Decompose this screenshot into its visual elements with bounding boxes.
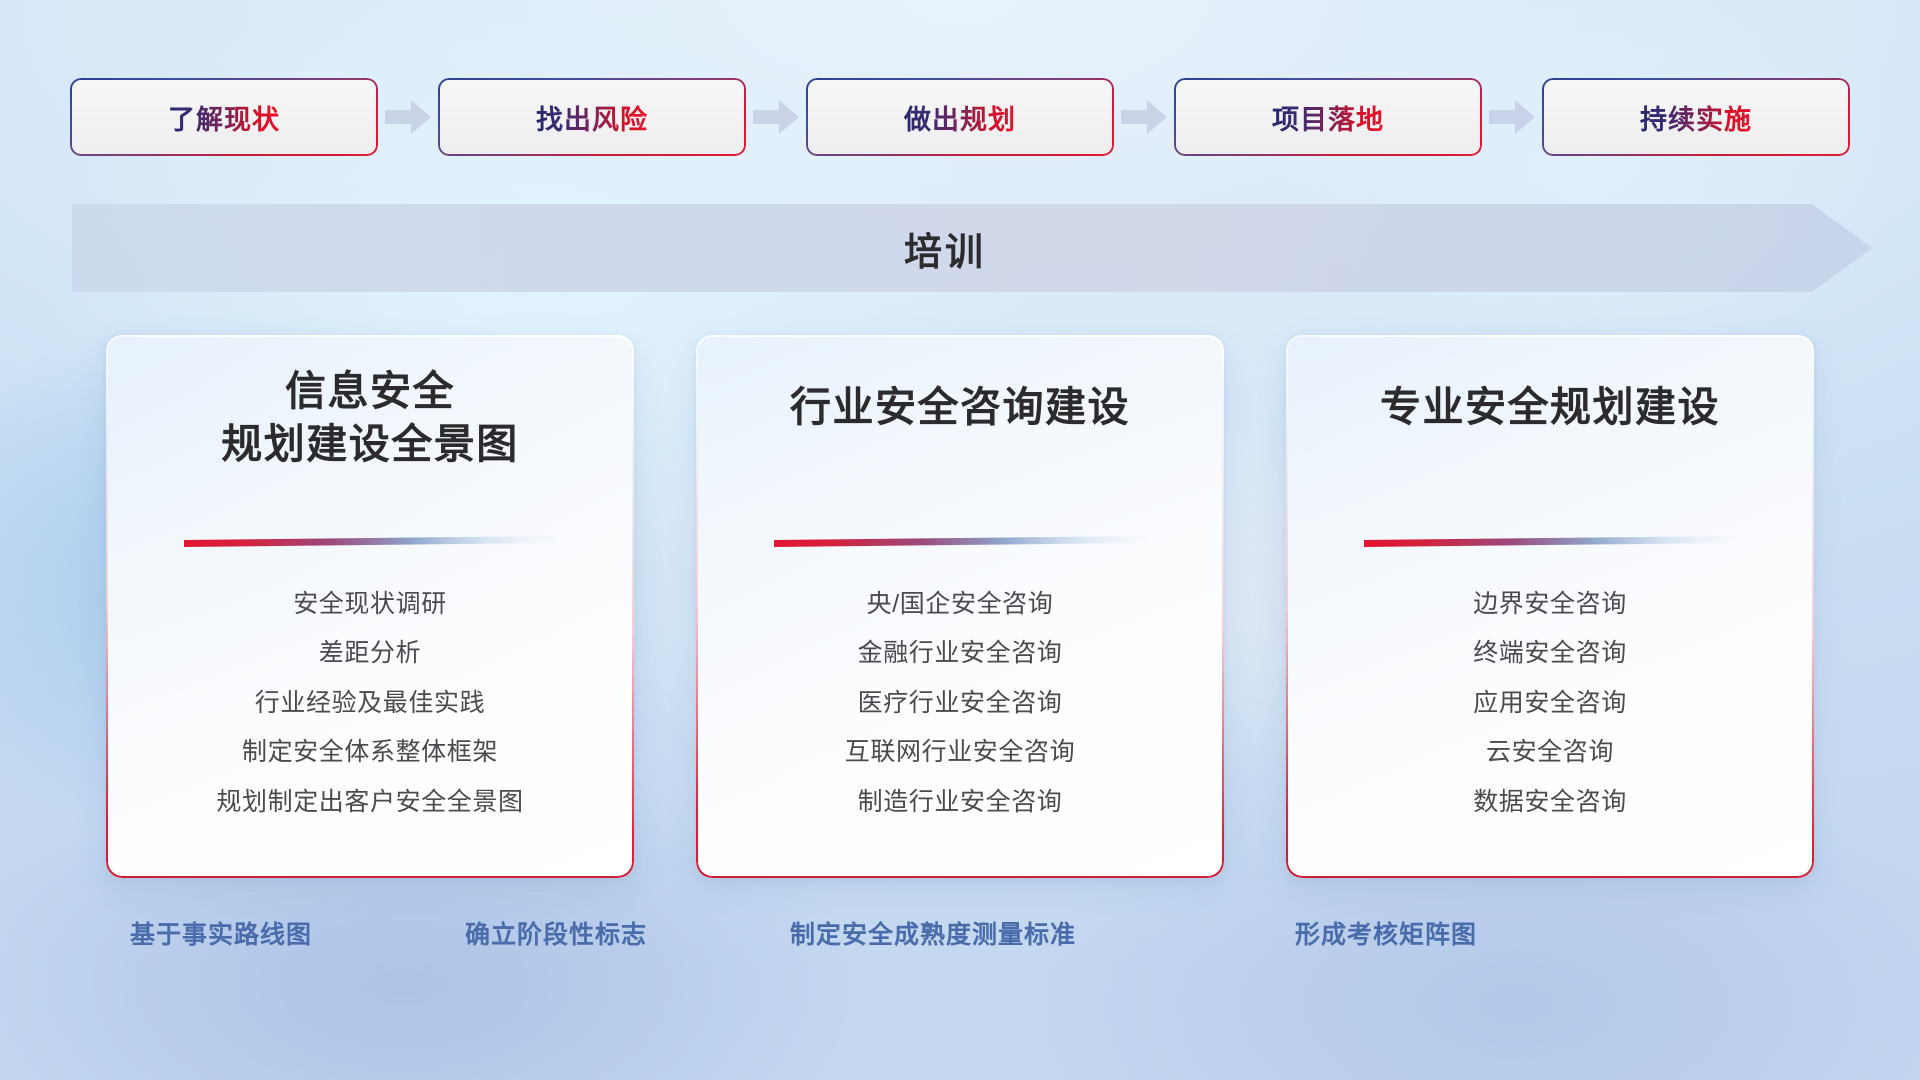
arrow-right-icon: [746, 78, 806, 156]
step-chip-label: 做出规划: [904, 98, 1016, 137]
card-list-item: 制造行业安全咨询: [858, 781, 1063, 825]
card-item-list: 安全现状调研 差距分析 行业经验及最佳实践 制定安全体系整体框架 规划制定出客户…: [216, 583, 523, 825]
card-list-item: 制定安全体系整体框架: [242, 731, 498, 775]
card-row: 信息安全 规划建设全景图: [0, 335, 1920, 875]
card-title-line: 专业安全规划建设: [1380, 381, 1720, 434]
card-list-item: 金融行业安全咨询: [858, 632, 1063, 676]
card-title: 专业安全规划建设: [1354, 381, 1746, 434]
step-chip-1[interactable]: 找出风险: [438, 78, 746, 156]
card-item-list: 边界安全咨询 终端安全咨询 应用安全咨询 云安全咨询 数据安全咨询: [1473, 583, 1627, 825]
arrow-right-icon: [1482, 78, 1542, 156]
card-2[interactable]: 专业安全规划建设: [1286, 335, 1814, 878]
step-chip-label: 项目落地: [1272, 98, 1384, 137]
card-list-item: 央/国企安全咨询: [867, 583, 1054, 627]
card-list-item: 数据安全咨询: [1473, 781, 1627, 825]
arrow-right-icon: [378, 78, 438, 156]
card-list-item: 安全现状调研: [293, 583, 447, 627]
card-divider: [1364, 536, 1736, 547]
card-divider: [184, 536, 556, 547]
card-0[interactable]: 信息安全 规划建设全景图: [106, 335, 634, 878]
card-list-item: 终端安全咨询: [1473, 632, 1627, 676]
footer-label-1: 确立阶段性标志: [465, 915, 647, 951]
footer-label-row: 基于事实路线图 确立阶段性标志 制定安全成熟度测量标准 形成考核矩阵图: [0, 915, 1920, 965]
card-title: 行业安全咨询建设: [764, 381, 1156, 434]
footer-label-0: 基于事实路线图: [130, 915, 312, 951]
card-title: 信息安全 规划建设全景图: [195, 365, 545, 472]
step-chip-label: 找出风险: [536, 98, 648, 137]
step-chip-label: 持续实施: [1640, 98, 1752, 137]
card-list-item: 应用安全咨询: [1473, 682, 1627, 726]
card-title-line: 行业安全咨询建设: [790, 381, 1130, 434]
card-list-item: 差距分析: [319, 632, 421, 676]
training-banner: 培训: [72, 202, 1872, 294]
card-list-item: 互联网行业安全咨询: [845, 731, 1075, 775]
card-list-item: 行业经验及最佳实践: [255, 682, 485, 726]
process-step-row: 了解现状 找出风险 做出规划 项目落地 持续实施: [0, 75, 1920, 159]
step-chip-2[interactable]: 做出规划: [806, 78, 1114, 156]
card-list-item: 云安全咨询: [1486, 731, 1614, 775]
card-title-line: 规划建设全景图: [221, 418, 519, 471]
card-list-item: 边界安全咨询: [1473, 583, 1627, 627]
card-title-line: 信息安全: [221, 365, 519, 418]
banner-title: 培训: [72, 202, 1872, 294]
card-1[interactable]: 行业安全咨询建设: [696, 335, 1224, 878]
card-list-item: 医疗行业安全咨询: [858, 682, 1063, 726]
footer-label-3: 形成考核矩阵图: [1295, 915, 1477, 951]
step-chip-4[interactable]: 持续实施: [1542, 78, 1850, 156]
step-chip-label: 了解现状: [168, 98, 280, 137]
card-item-list: 央/国企安全咨询 金融行业安全咨询 医疗行业安全咨询 互联网行业安全咨询 制造行…: [845, 583, 1075, 825]
step-chip-0[interactable]: 了解现状: [70, 78, 378, 156]
arrow-right-icon: [1114, 78, 1174, 156]
step-chip-3[interactable]: 项目落地: [1174, 78, 1482, 156]
card-divider: [774, 536, 1146, 547]
footer-label-2: 制定安全成熟度测量标准: [790, 915, 1076, 951]
card-list-item: 规划制定出客户安全全景图: [216, 781, 523, 825]
